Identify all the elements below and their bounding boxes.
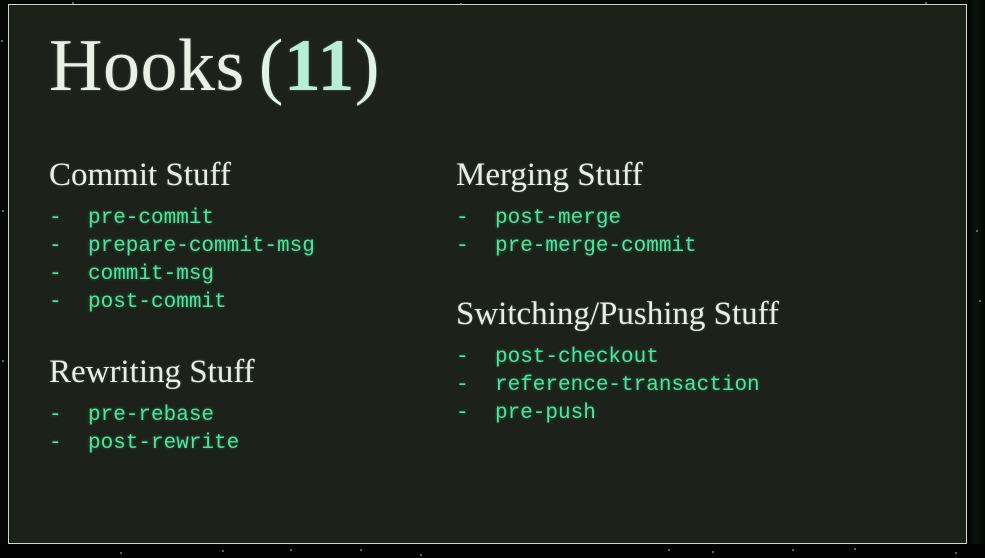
noise-speck [1, 40, 3, 42]
list-item: -post-rewrite [49, 430, 449, 458]
hook-name: post-rewrite [88, 432, 239, 455]
column-right: Merging Stuff -post-merge -pre-merge-com… [456, 155, 956, 458]
list-item: -commit-msg [49, 261, 449, 289]
bullet-dash: - [456, 233, 495, 261]
hook-name: commit-msg [88, 263, 214, 286]
hook-name: pre-merge-commit [495, 235, 697, 258]
page-title: Hooks(11) [49, 29, 380, 103]
hook-name: prepare-commit-msg [88, 235, 315, 258]
noise-speck [420, 554, 422, 556]
noise-speck [72, 2, 74, 4]
bullet-dash: - [49, 205, 88, 233]
bullet-dash: - [456, 344, 495, 372]
noise-speck [120, 552, 122, 554]
surround-right-edge [968, 0, 985, 558]
noise-speck [792, 549, 794, 551]
group-heading: Commit Stuff [49, 155, 449, 195]
group-switching-pushing-stuff: Switching/Pushing Stuff -post-checkout -… [456, 294, 956, 428]
hook-list: -pre-commit -prepare-commit-msg -commit-… [49, 205, 449, 317]
noise-speck [854, 548, 856, 550]
bullet-dash: - [456, 372, 495, 400]
hook-name: post-merge [495, 207, 621, 230]
list-item: -reference-transaction [456, 372, 956, 400]
surround-bottom-edge [0, 544, 985, 558]
list-item: -post-commit [49, 289, 449, 317]
bullet-dash: - [456, 205, 495, 233]
bullet-dash: - [49, 289, 88, 317]
noise-speck [925, 2, 927, 4]
list-item: -pre-merge-commit [456, 233, 956, 261]
title-count-open-paren: ( [259, 25, 284, 107]
title-count-close-paren: ) [355, 25, 380, 107]
group-heading: Rewriting Stuff [49, 352, 449, 392]
noise-speck [2, 210, 4, 212]
noise-speck [955, 552, 957, 554]
group-merging-stuff: Merging Stuff -post-merge -pre-merge-com… [456, 155, 956, 261]
column-left: Commit Stuff -pre-commit -prepare-commit… [49, 155, 449, 488]
noise-speck [2, 360, 4, 362]
title-count-value: 11 [284, 25, 355, 107]
presentation-slide: Hooks(11) Commit Stuff -pre-commit -prep… [8, 4, 967, 544]
list-item: -pre-commit [49, 205, 449, 233]
bullet-dash: - [49, 233, 88, 261]
list-item: -pre-push [456, 400, 956, 428]
group-heading: Switching/Pushing Stuff [456, 294, 956, 334]
group-heading: Merging Stuff [456, 155, 956, 195]
hook-name: post-checkout [495, 346, 659, 369]
bullet-dash: - [456, 400, 495, 428]
bullet-dash: - [49, 402, 88, 430]
hook-name: pre-commit [88, 207, 214, 230]
list-item: -prepare-commit-msg [49, 233, 449, 261]
hook-list: -post-merge -pre-merge-commit [456, 205, 956, 261]
bullet-dash: - [49, 430, 88, 458]
noise-speck [979, 300, 981, 302]
title-text: Hooks [49, 25, 245, 107]
noise-speck [712, 551, 714, 553]
noise-speck [360, 549, 362, 551]
noise-speck [460, 3, 462, 5]
hook-list: -post-checkout -reference-transaction -p… [456, 344, 956, 428]
slide-screenshot: Hooks(11) Commit Stuff -pre-commit -prep… [0, 0, 985, 558]
noise-speck [668, 549, 670, 551]
noise-speck [976, 230, 978, 232]
list-item: -pre-rebase [49, 402, 449, 430]
hook-name: post-commit [88, 291, 227, 314]
hook-name: pre-push [495, 402, 596, 425]
noise-speck [222, 550, 224, 552]
hook-name: pre-rebase [88, 404, 214, 427]
group-commit-stuff: Commit Stuff -pre-commit -prepare-commit… [49, 155, 449, 317]
hook-list: -pre-rebase -post-rewrite [49, 402, 449, 458]
hook-name: reference-transaction [495, 374, 760, 397]
title-count: (11) [259, 25, 380, 107]
group-rewriting-stuff: Rewriting Stuff -pre-rebase -post-rewrit… [49, 352, 449, 458]
list-item: -post-checkout [456, 344, 956, 372]
list-item: -post-merge [456, 205, 956, 233]
bullet-dash: - [49, 261, 88, 289]
noise-speck [290, 549, 292, 551]
